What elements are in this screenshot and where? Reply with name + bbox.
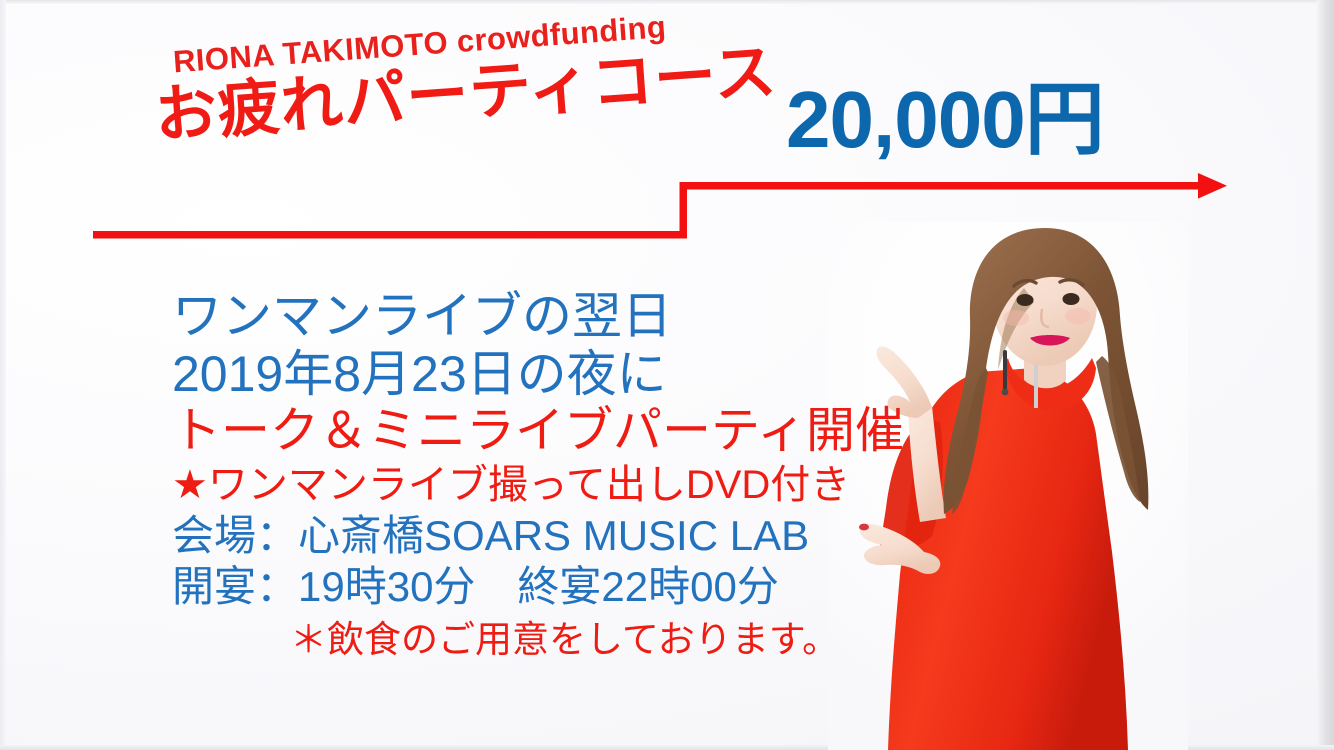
blush-left [1003,310,1029,326]
woman-in-red-pointing-illustration [828,222,1188,750]
price-amount: 20,000円 [786,78,1104,162]
slide-canvas: RIONA TAKIMOTO crowdfunding お疲れパーティコース 2… [0,0,1334,750]
slide-edge-right [1317,0,1334,750]
arrow-head [1198,173,1227,199]
arrow-segment-lower [93,231,687,239]
arrow-segment-upper [680,182,1202,190]
arrow-riser [680,182,688,239]
body-line-2: 2019年8月23日の夜に [172,346,812,402]
eye-left [1017,294,1034,306]
body-line-1: ワンマンライブの翌日 [172,288,812,344]
nail-polish [859,524,869,531]
body-copy-block: ワンマンライブの翌日 2019年8月23日の夜に トーク＆ミニライブパーティ開催… [172,288,812,660]
slide-edge-top [0,0,1334,4]
body-line-7: ＊飲食のご用意をしております。 [172,619,812,660]
zipper [1034,362,1038,408]
slide-edge-left [0,0,6,750]
body-line-3: トーク＆ミニライブパーティ開催 [172,404,812,459]
body-line-5: 会場：心斎橋SOARS MUSIC LAB [172,512,812,559]
body-line-4: ★ワンマンライブ撮って出しDVD付き [172,463,812,508]
presenter-photo [828,222,1188,750]
body-line-6: 開宴：19時30分 終宴22時00分 [172,563,812,610]
red-step-arrow [80,168,1240,258]
